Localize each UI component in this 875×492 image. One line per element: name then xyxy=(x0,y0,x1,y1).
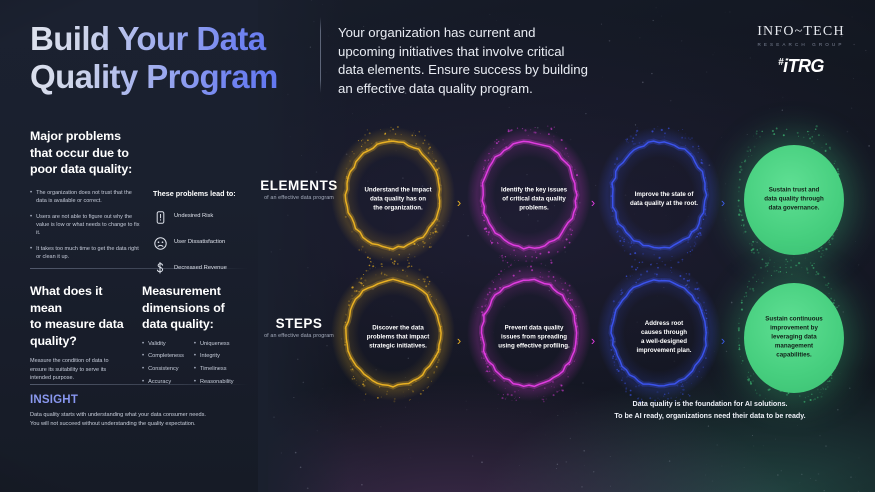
node-text: Address root causes through a well-desig… xyxy=(616,320,712,356)
node-text: Prevent data quality issues from spreadi… xyxy=(486,325,582,352)
dimensions-heading: Measurement dimensions of data quality: xyxy=(142,283,262,333)
dimension-label: Uniqueness xyxy=(200,341,230,348)
bullet-dot: • xyxy=(30,213,32,238)
lead-to-label: Decreased Revenue xyxy=(174,265,227,273)
logo: INFO~TECH RESEARCH GROUP #iTRG xyxy=(741,24,861,77)
problems-heading: Major problems that occur due to poor da… xyxy=(30,128,265,178)
bullet-dot: • xyxy=(194,353,196,360)
lead-to-item: Undesired Risk xyxy=(153,210,261,225)
dimensions-column-two: •Uniqueness•Integrity•Timeliness•Reasona… xyxy=(194,341,234,385)
lead-to-group: These problems lead to: Undesired RiskUs… xyxy=(153,189,261,277)
dimension-label: Completeness xyxy=(148,353,184,360)
insight-heading: INSIGHT xyxy=(30,394,280,406)
node-text: Sustain trust and data quality through d… xyxy=(746,187,842,214)
dimension-item: •Uniqueness xyxy=(194,341,234,348)
lead-to-heading: These problems lead to: xyxy=(153,189,261,199)
node-text: Discover the data problems that impact s… xyxy=(350,325,446,352)
header-divider xyxy=(320,17,321,93)
bullet-dot: • xyxy=(30,245,32,262)
insight-body: Data quality starts with understanding w… xyxy=(30,411,280,429)
node-text: Improve the state of data quality at the… xyxy=(616,191,712,209)
flow-node[interactable]: Discover the data problems that impact s… xyxy=(346,280,450,396)
bullet-dot: • xyxy=(194,366,196,373)
dimension-item: •Consistency xyxy=(142,366,184,373)
logo-tagline: RESEARCH GROUP xyxy=(741,42,861,47)
problems-block: Major problems that occur due to poor da… xyxy=(30,128,265,277)
flow-node[interactable]: Address root causes through a well-desig… xyxy=(612,280,716,396)
dimension-item: •Validity xyxy=(142,341,184,348)
ai-readiness-note: Data quality is the foundation for AI so… xyxy=(560,398,860,422)
flow-node[interactable]: Identify the key issues of critical data… xyxy=(482,142,586,258)
dimension-label: Validity xyxy=(148,341,166,348)
elements-row: ELEMENTSof an effective data programUnde… xyxy=(256,142,868,262)
sad-face-icon xyxy=(153,236,167,251)
flow-node[interactable]: Prevent data quality issues from spreadi… xyxy=(482,280,586,396)
bullet-dot: • xyxy=(30,189,32,206)
lead-to-list: Undesired RiskUser DissatisfactionDecrea… xyxy=(153,210,261,277)
header: Build Your Data Quality Program Your org… xyxy=(0,0,875,112)
flow-node[interactable]: Sustain trust and data quality through d… xyxy=(742,142,846,258)
bullet-dot: • xyxy=(142,353,144,360)
infographic-canvas: Build Your Data Quality Program Your org… xyxy=(0,0,875,492)
logo-wordmark: INFO~TECH xyxy=(741,24,861,40)
divider-two xyxy=(30,384,248,385)
flow-node[interactable]: Understand the impact data quality has o… xyxy=(346,142,450,258)
node-text: Sustain continuous improvement by levera… xyxy=(746,316,842,361)
steps-row: STEPSof an effective data programDiscove… xyxy=(256,280,868,400)
logo-itrg-text: iTRG xyxy=(783,56,824,76)
divider-one xyxy=(30,268,248,269)
dimension-item: •Timeliness xyxy=(194,366,234,373)
bullet-dot: • xyxy=(142,366,144,373)
measure-heading: What does it mean to measure data qualit… xyxy=(30,283,130,349)
dimension-label: Consistency xyxy=(148,366,178,373)
bullet-dot: • xyxy=(142,341,144,348)
flow-node[interactable]: Sustain continuous improvement by levera… xyxy=(742,280,846,396)
bullet-text: The organization does not trust that the… xyxy=(36,189,142,206)
node-text: Understand the impact data quality has o… xyxy=(350,187,446,214)
dimension-item: •Integrity xyxy=(194,353,234,360)
dimension-label: Timeliness xyxy=(200,366,227,373)
lead-to-item: User Dissatisfaction xyxy=(153,236,261,251)
bullet-dot: • xyxy=(194,341,196,348)
lead-to-item: Decreased Revenue xyxy=(153,262,261,277)
bullet-text: Users are not able to figure out why the… xyxy=(36,213,142,238)
problems-bullet-list: •The organization does not trust that th… xyxy=(30,189,142,277)
dimension-label: Integrity xyxy=(200,353,220,360)
measure-block: What does it mean to measure data qualit… xyxy=(30,283,265,385)
problem-bullet: •The organization does not trust that th… xyxy=(30,189,142,206)
measure-definition: What does it mean to measure data qualit… xyxy=(30,283,130,385)
dimensions-group: Measurement dimensions of data quality: … xyxy=(142,283,262,385)
dollar-icon xyxy=(153,262,167,277)
bullet-text: It takes too much time to get the data r… xyxy=(36,245,142,262)
header-subtitle: Your organization has current and upcomi… xyxy=(338,24,638,99)
measure-body: Measure the condition of data to ensure … xyxy=(30,357,130,383)
insight-block: INSIGHT Data quality starts with underst… xyxy=(30,394,280,429)
dimension-item: •Completeness xyxy=(142,353,184,360)
lead-to-label: Undesired Risk xyxy=(174,213,213,221)
problem-bullet: •Users are not able to figure out why th… xyxy=(30,213,142,238)
problem-bullet: •It takes too much time to get the data … xyxy=(30,245,142,262)
alert-icon xyxy=(153,210,167,225)
dimensions-column-one: •Validity•Completeness•Consistency•Accur… xyxy=(142,341,184,385)
flow-node[interactable]: Improve the state of data quality at the… xyxy=(612,142,716,258)
logo-itrg: #iTRG xyxy=(741,56,861,77)
page-title: Build Your Data Quality Program xyxy=(30,20,278,95)
node-text: Identify the key issues of critical data… xyxy=(486,187,582,214)
lead-to-label: User Dissatisfaction xyxy=(174,239,225,247)
